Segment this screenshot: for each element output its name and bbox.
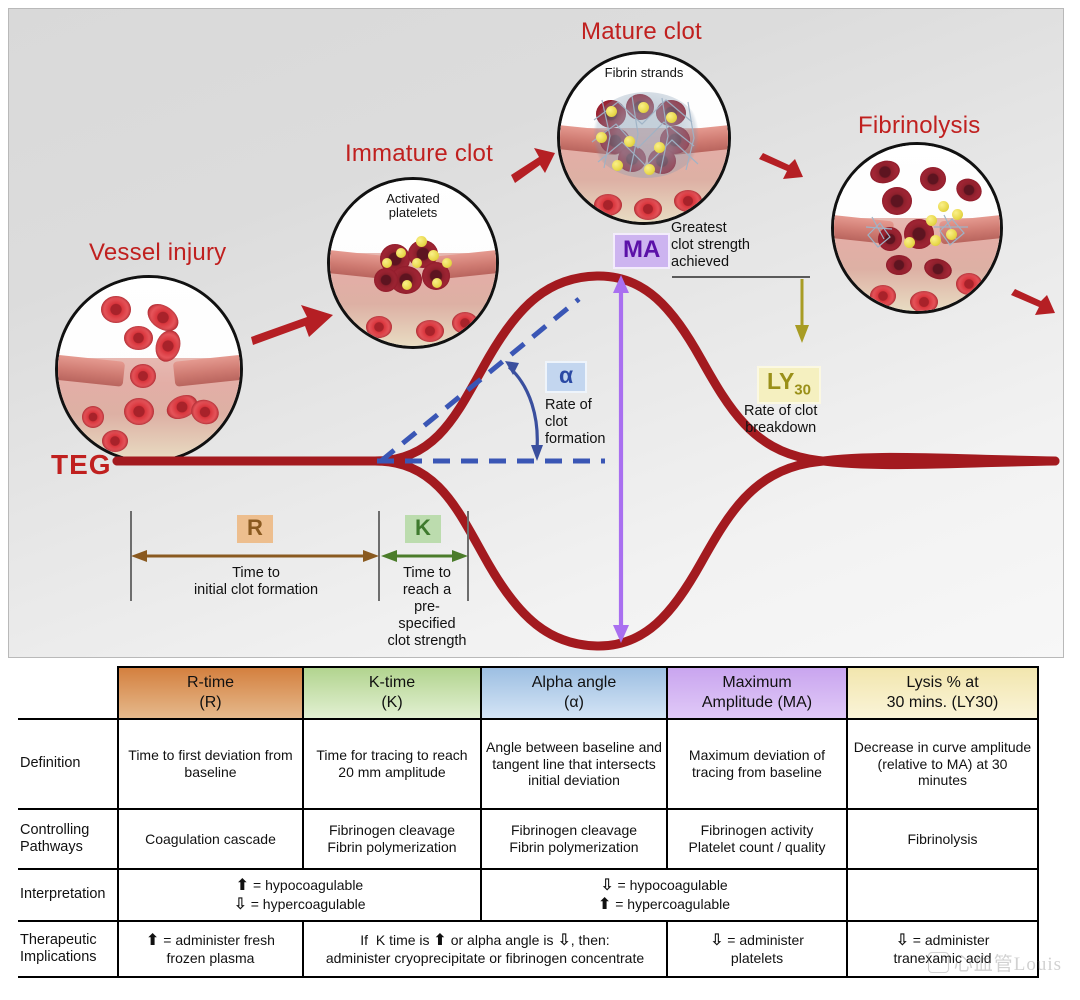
ly30-badge: LY30 xyxy=(757,366,821,404)
ly30-badge-main: LY xyxy=(767,368,794,394)
cell-definition-k: Time for tracing to reach 20 mm amplitud… xyxy=(303,719,481,809)
table-row-controlling-pathways: ControllingPathways Coagulation cascade … xyxy=(18,809,1038,869)
caption-activated-platelets: Activatedplatelets xyxy=(330,192,496,221)
k-note: Time toreach apre-specifiedclot strength xyxy=(387,565,467,651)
teg-diagram-panel: Vessel injury Immature clot Mature clot … xyxy=(8,8,1064,658)
cell-pathways-ma: Fibrinogen activityPlatelet count / qual… xyxy=(667,809,847,869)
cell-interpretation-right: ⇩ = hypocoagulable ⬆ = hypercoagulable xyxy=(481,869,847,921)
cell-pathways-r: Coagulation cascade xyxy=(118,809,303,869)
tracing-lower-curve xyxy=(117,457,1055,646)
alpha-badge: α xyxy=(545,361,587,393)
cell-definition-r: Time to first deviation from baseline xyxy=(118,719,303,809)
r-arrow-right-icon xyxy=(363,550,379,562)
row-label-therapeutic: TherapeuticImplications xyxy=(18,921,118,977)
table-row-therapeutic: TherapeuticImplications ⬆ = administer f… xyxy=(18,921,1038,977)
header-title: K-time xyxy=(369,674,415,691)
ma-badge: MA xyxy=(613,233,670,269)
arrow-up-icon: ⬆ xyxy=(598,896,611,913)
cell-pathways-k: Fibrinogen cleavageFibrin polymerization xyxy=(303,809,481,869)
cell-pathways-ly30: Fibrinolysis xyxy=(847,809,1038,869)
arrow-up-icon: ⬆ xyxy=(236,877,249,894)
cell-interpretation-left: ⬆ = hypocoagulable ⇩ = hypercoagulable xyxy=(118,869,481,921)
header-sub: (α) xyxy=(564,694,584,711)
arrow-down-outline-icon: ⇩ xyxy=(896,932,909,949)
header-sub: Amplitude (MA) xyxy=(702,694,812,711)
header-k-time: K-time (K) xyxy=(303,667,481,719)
alpha-note: Rate ofclotformation xyxy=(545,397,605,448)
ly30-arrow-down-icon xyxy=(795,325,809,343)
k-badge: K xyxy=(405,515,441,543)
k-arrow-right-icon xyxy=(452,550,468,562)
row-label-empty xyxy=(18,667,118,719)
header-maximum-amplitude: Maximum Amplitude (MA) xyxy=(667,667,847,719)
header-sub: (K) xyxy=(381,694,402,711)
k-arrow-left-icon xyxy=(381,550,397,562)
table-row-interpretation: Interpretation ⬆ = hypocoagulable ⇩ = hy… xyxy=(18,869,1038,921)
header-alpha-angle: Alpha angle (α) xyxy=(481,667,667,719)
arrow-down-outline-icon: ⇩ xyxy=(233,896,246,913)
caption-fibrin-strands: Fibrin strands xyxy=(560,66,728,81)
cell-therapeutic-r: ⬆ = administer freshfrozen plasma xyxy=(118,921,303,977)
arrow-down-outline-icon: ⇩ xyxy=(710,932,723,949)
teg-tracing xyxy=(9,9,1064,658)
watermark-badge-icon xyxy=(928,952,949,973)
ma-note: Greatestclot strengthachieved xyxy=(671,220,750,271)
watermark-text: 心血管Louis xyxy=(954,949,1062,976)
cell-definition-ly30: Decrease in curve amplitude (relative to… xyxy=(847,719,1038,809)
header-sub: 30 mins. (LY30) xyxy=(887,694,999,711)
arrow-down-outline-icon: ⇩ xyxy=(600,877,613,894)
ly30-note: Rate of clotbreakdown xyxy=(744,403,817,437)
arrow-up-icon: ⬆ xyxy=(146,932,159,949)
cell-definition-alpha: Angle between baseline and tangent line … xyxy=(481,719,667,809)
row-label-controlling-pathways: ControllingPathways xyxy=(18,809,118,869)
r-badge: R xyxy=(237,515,273,543)
alpha-angle-arc xyxy=(509,367,537,449)
cell-therapeutic-ma: ⇩ = administerplatelets xyxy=(667,921,847,977)
table-row-definition: Definition Time to first deviation from … xyxy=(18,719,1038,809)
r-note: Time toinitial clot formation xyxy=(161,565,351,599)
header-title: Alpha angle xyxy=(532,674,617,691)
r-arrow-left-icon xyxy=(131,550,147,562)
row-label-definition: Definition xyxy=(18,719,118,809)
header-title: Lysis % at xyxy=(906,674,978,691)
header-sub: (R) xyxy=(199,694,221,711)
table-header-row: R-time (R) K-time (K) Alpha angle (α) Ma… xyxy=(18,667,1038,719)
teg-parameter-table-wrap: R-time (R) K-time (K) Alpha angle (α) Ma… xyxy=(8,666,1072,996)
header-title: Maximum xyxy=(722,674,791,691)
cell-pathways-alpha: Fibrinogen cleavageFibrin polymerization xyxy=(481,809,667,869)
cell-therapeutic-k-alpha: If K time is ⬆ or alpha angle is ⇩, then… xyxy=(303,921,667,977)
teg-parameter-table: R-time (R) K-time (K) Alpha angle (α) Ma… xyxy=(18,666,1039,978)
header-title: R-time xyxy=(187,674,234,691)
cell-interpretation-ly30 xyxy=(847,869,1038,921)
arrow-up-icon: ⬆ xyxy=(433,932,446,949)
row-label-interpretation: Interpretation xyxy=(18,869,118,921)
header-lysis: Lysis % at 30 mins. (LY30) xyxy=(847,667,1038,719)
cell-definition-ma: Maximum deviation of tracing from baseli… xyxy=(667,719,847,809)
arrow-down-outline-icon: ⇩ xyxy=(557,932,570,949)
ly30-badge-sub: 30 xyxy=(794,382,811,399)
header-r-time: R-time (R) xyxy=(118,667,303,719)
watermark: 心血管Louis xyxy=(928,949,1062,976)
